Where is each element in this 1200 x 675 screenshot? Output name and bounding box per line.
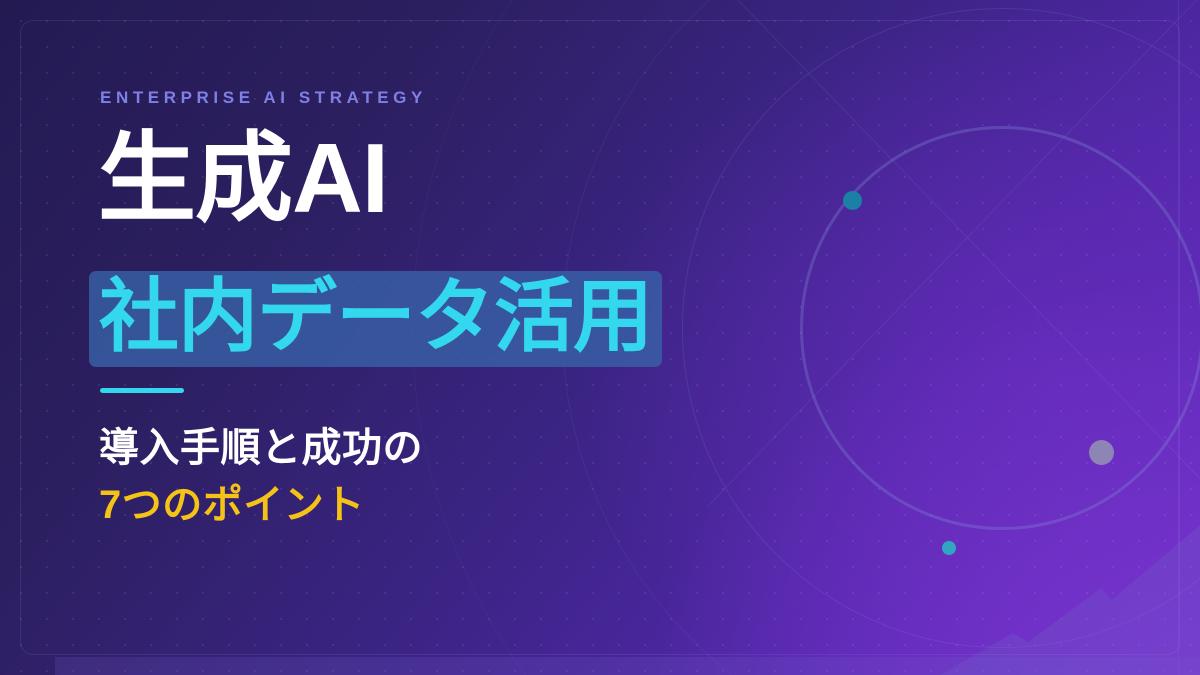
teal-dot-large-icon [843,191,862,210]
slide-content: ENTERPRISE AI STRATEGY 生成AI 社内データ活用 導入手順… [98,0,818,675]
teal-dot-small-icon [942,541,956,555]
title-highlight-text: 社内データ活用 [99,277,652,357]
page-title: 生成AI [98,129,388,227]
title-highlight-wrap: 社内データ活用 [89,271,662,367]
accent-divider [100,388,184,393]
title-highlight-band: 社内データ活用 [89,271,662,367]
gray-dot-large-icon [1089,440,1114,465]
vertical-accent-line [1178,0,1179,675]
eyebrow-label: ENTERPRISE AI STRATEGY [100,88,427,108]
concentric-ring-inner-icon [800,126,1200,530]
subtitle-line-2: 7つのポイント [99,481,365,529]
presentation-slide: ENTERPRISE AI STRATEGY 生成AI 社内データ活用 導入手順… [0,0,1200,675]
subtitle-line-1: 導入手順と成功の [99,424,423,472]
mountain-silhouette-icon [940,525,1200,675]
